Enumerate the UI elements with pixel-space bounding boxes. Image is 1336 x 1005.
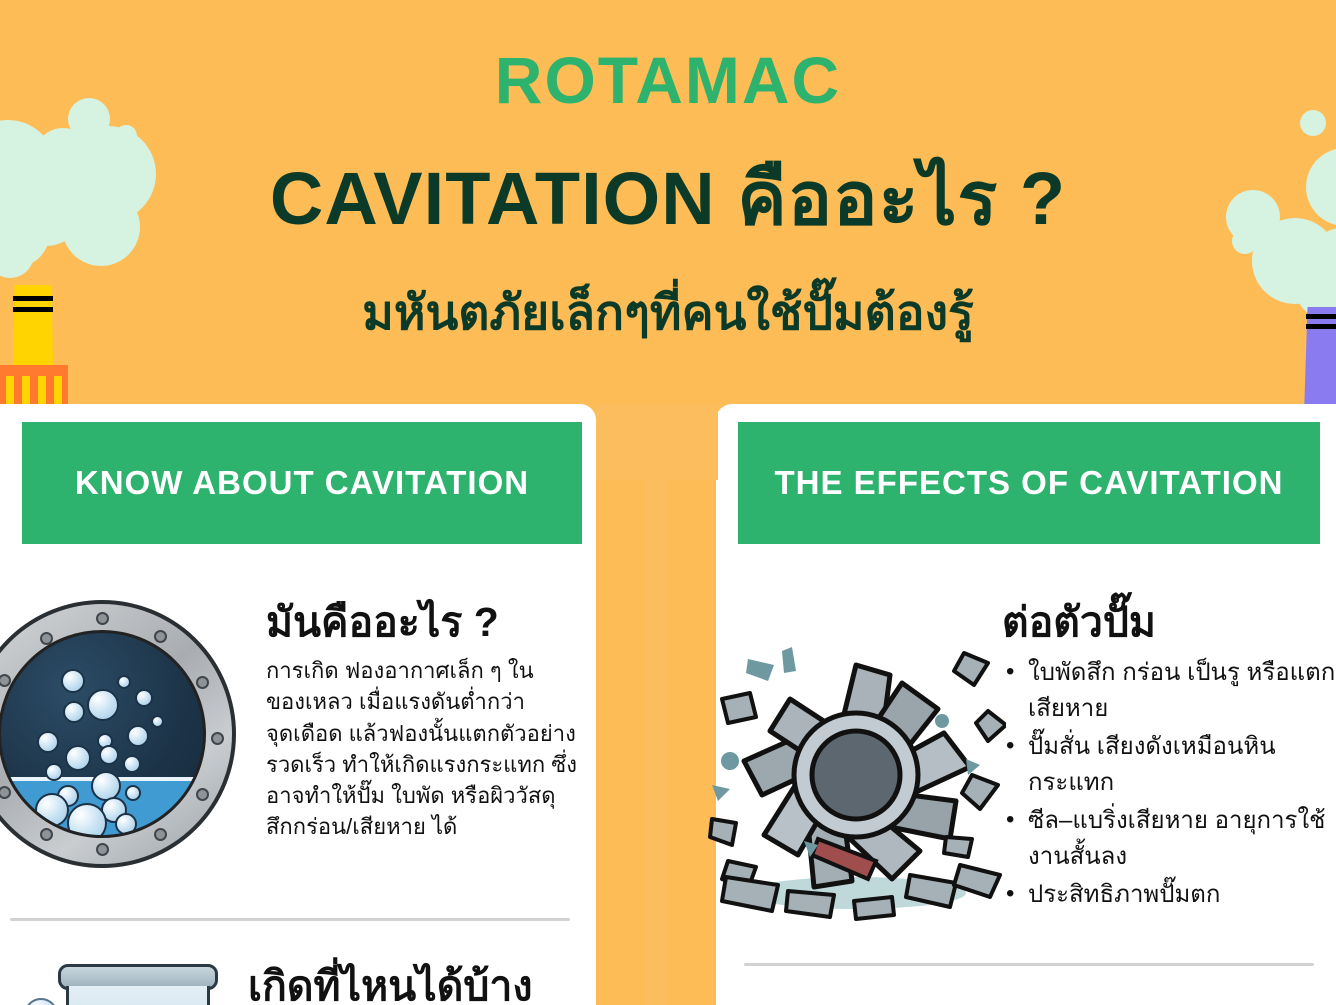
banner-left-label: KNOW ABOUT CAVITATION: [75, 462, 529, 503]
bubble-icon: [61, 669, 85, 693]
effects-list: ใบพัดสึก กร่อน เป็นรู หรือแตกเสียหาย ปั๊…: [1002, 655, 1336, 913]
bubble-icon: [123, 755, 141, 773]
porthole-bolt-icon: [96, 843, 109, 856]
banner-know-about-cavitation: KNOW ABOUT CAVITATION: [22, 422, 582, 544]
block-body: การเกิด ฟองอากาศเล็ก ๆ ในของเหลว เมื่อแร…: [266, 655, 586, 842]
porthole-glass: [0, 630, 206, 838]
bubble-icon: [135, 689, 153, 707]
bubble-icon: [45, 763, 63, 781]
bubble-icon: [87, 689, 119, 721]
block-effects-on-pump: ต่อตัวปั๊ม ใบพัดสึก กร่อน เป็นรู หรือแตก…: [1002, 600, 1336, 915]
column-divider: [646, 478, 668, 1005]
block-heading: ต่อตัวปั๊ม: [1002, 600, 1336, 645]
bubble-icon: [151, 715, 164, 728]
bubble-icon: [99, 745, 119, 765]
bubble-icon: [37, 731, 59, 753]
bubble-icon: [19, 811, 41, 833]
section-divider: [744, 963, 1314, 966]
porthole-bubbles-icon: [0, 600, 236, 868]
banner-right-label: THE EFFECTS OF CAVITATION: [775, 462, 1284, 503]
beaker-bubbles-icon: [18, 962, 228, 1005]
porthole-bolt-icon: [196, 676, 209, 689]
brand-logo: ROTAMAC: [0, 42, 1336, 118]
broken-impeller-icon: [706, 625, 1006, 925]
bubble-icon: [115, 813, 137, 835]
broken-impeller-svg: [706, 625, 1006, 925]
porthole-bolt-icon: [154, 630, 167, 643]
bubble-icon: [24, 998, 58, 1005]
list-item: ซีล–แบริ่งเสียหาย อายุการใช้งานสั้นลง: [1002, 803, 1336, 875]
page-title: CAVITATION คืออะไร ?: [0, 160, 1336, 238]
list-item: ประสิทธิภาพปั๊มตก: [1002, 877, 1336, 913]
porthole-bolt-icon: [211, 732, 224, 745]
bubble-icon: [127, 725, 149, 747]
beaker-body: [66, 986, 210, 1005]
list-item: ปั๊มสั่น เสียงดังเหมือนหินกระแทก: [1002, 729, 1336, 801]
block-heading: เกิดที่ไหนได้บ้าง: [248, 964, 588, 1005]
bubble-icon: [117, 675, 131, 689]
smoke-cloud-icon: [115, 125, 137, 147]
column-divider-top: [596, 404, 718, 480]
block-what-is-it: มันคืออะไร ? การเกิด ฟองอากาศเล็ก ๆ ในขอ…: [266, 600, 586, 843]
block-where-it-happens: เกิดที่ไหนได้บ้าง: [248, 964, 588, 1005]
bubble-icon: [65, 745, 91, 771]
infographic-page: ROTAMAC CAVITATION คืออะไร ? มหันตภัยเล็…: [0, 0, 1336, 1005]
banner-effects-of-cavitation: THE EFFECTS OF CAVITATION: [738, 422, 1320, 544]
bubble-icon: [67, 803, 107, 838]
section-divider: [10, 918, 570, 921]
list-item: ใบพัดสึก กร่อน เป็นรู หรือแตกเสียหาย: [1002, 655, 1336, 727]
porthole-bolt-icon: [96, 612, 109, 625]
block-heading: มันคืออะไร ?: [266, 600, 586, 645]
bubble-icon: [63, 701, 85, 723]
page-subtitle: มหันตภัยเล็กๆที่คนใช้ปั๊มต้องรู้: [0, 288, 1336, 341]
bubble-icon: [125, 785, 141, 801]
